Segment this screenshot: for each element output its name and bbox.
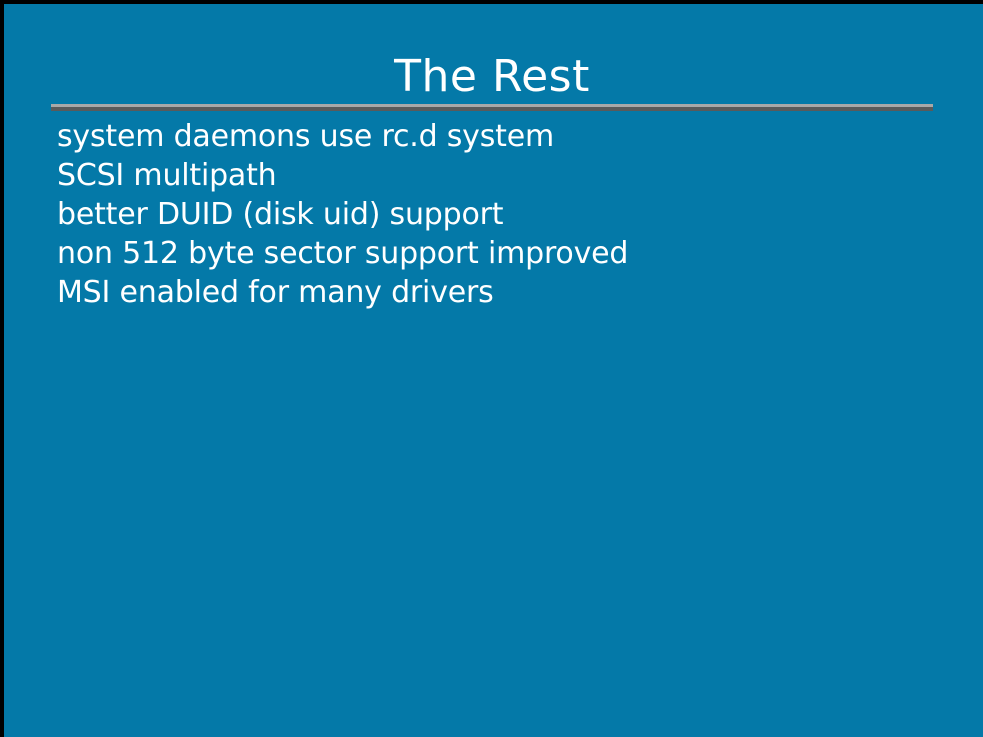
list-item: system daemons use rc.d system (57, 117, 957, 156)
title-divider-shadow (51, 107, 933, 111)
list-item: non 512 byte sector support improved (57, 234, 957, 273)
page-title: The Rest (51, 52, 933, 102)
bullet-list: system daemons use rc.d system SCSI mult… (57, 117, 957, 312)
presentation-slide: The Rest system daemons use rc.d system … (0, 0, 983, 737)
slide-content-area: The Rest system daemons use rc.d system … (4, 4, 983, 737)
list-item: better DUID (disk uid) support (57, 195, 957, 234)
list-item: SCSI multipath (57, 156, 957, 195)
list-item: MSI enabled for many drivers (57, 273, 957, 312)
title-divider (51, 104, 933, 111)
